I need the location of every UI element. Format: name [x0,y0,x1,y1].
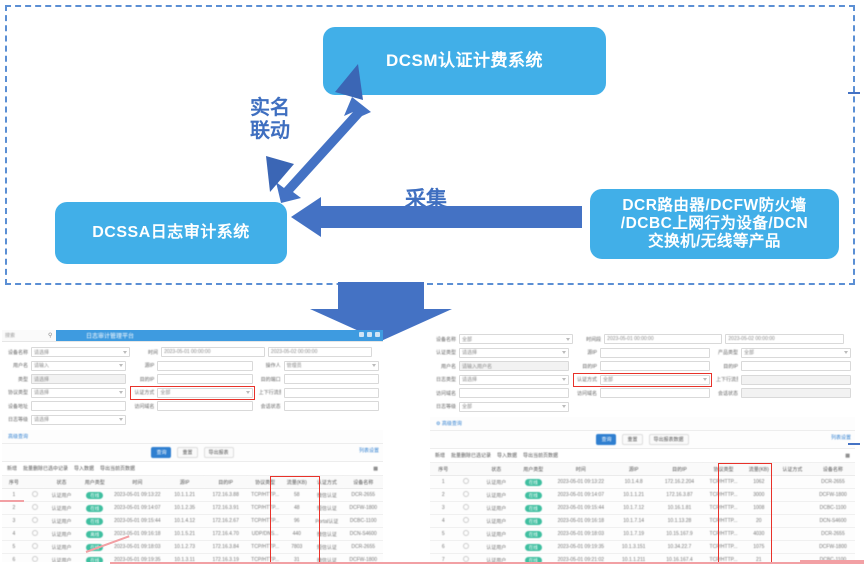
search-icon[interactable]: ⚲ [48,332,52,339]
table-column-header[interactable] [456,463,475,476]
status-badge: 在线 [525,505,542,512]
field-label: 日志等级 [434,403,456,410]
cell-protocol: TCP/HTTP... [247,489,283,502]
form-row: 访问域名 访问域名 会话状态 [434,388,851,398]
cell-src-ip: 10.1.1.21 [612,489,656,502]
cell-index: 1 [430,476,456,489]
table-row[interactable]: 4认证用户离线2023-05-01 09:16:1810.1.5.21172.1… [2,528,383,541]
field-device-name[interactable]: 设备名称 请选择 [6,347,130,357]
right-list-settings-link[interactable]: 列表设置 [831,434,851,441]
field-input[interactable] [31,401,126,411]
chevron-down-icon[interactable] [844,351,848,354]
cell-auth-method [774,528,811,541]
row-checkbox[interactable] [456,502,475,515]
field-value: 管理员 [287,362,302,369]
form-row: 日志类型 请选择 认证方式 全部 上下行流量 [434,375,851,385]
cell-device-name: DCR-2655 [811,476,855,489]
field-label: 用户名 [6,362,28,369]
table-column-header[interactable]: 流量(KB) [744,463,774,476]
field-session-state[interactable]: 会话状态 [259,401,379,411]
form-row: 用户名 请输入 源IP 操作人 管理员 [6,361,379,371]
field-label: 设备名称 [6,349,28,356]
table-column-header[interactable]: 时间 [550,463,612,476]
field-auth-method-highlighted[interactable]: 认证方式 全部 [575,375,710,385]
field-input[interactable]: 请选择 [31,347,130,357]
table-column-header[interactable]: 认证方式 [310,476,343,489]
field-label: 协议类型 [6,389,28,396]
right-advanced-query-toggle[interactable]: ⚙ 高级查询 [430,417,855,430]
cell-protocol: TCP/HTTP... [703,515,744,528]
table-row[interactable]: 3认证用户在线2023-05-01 09:15:4410.1.7.1210.16… [430,502,855,515]
field-input-to[interactable]: 2023-05-02 00:00:00 [268,347,372,357]
checkbox-icon[interactable] [463,530,469,536]
field-input[interactable] [284,374,379,384]
table-column-header[interactable]: 状态 [43,476,79,489]
row-checkbox[interactable] [26,489,44,502]
cell-time: 2023-05-01 09:14:07 [110,502,165,515]
field-label: 认证方式 [575,376,597,383]
screenshot-right-log-query[interactable]: 设备名称 全部 时间段 2023-05-01 00:00:00 2023-05-… [430,326,855,562]
field-input[interactable] [157,361,252,371]
status-badge: 在线 [86,557,103,563]
table-column-header[interactable]: 序号 [2,476,26,489]
status-badge: 在线 [525,518,542,525]
marker-dash-top-right [848,92,860,94]
field-input[interactable] [600,348,710,358]
table-row[interactable]: 2认证用户在线2023-05-01 09:14:0710.1.2.35172.1… [2,502,383,515]
cell-device-name: DCR-2655 [811,528,855,541]
field-src-ip[interactable]: 源IP [132,361,252,371]
chevron-down-icon[interactable] [246,391,250,394]
cell-flow: 3000 [744,489,774,502]
node-dcsm-label: DCSM认证计费系统 [386,51,543,71]
field-input[interactable] [157,374,252,384]
chevron-down-icon[interactable] [562,378,566,381]
table-column-header[interactable]: 协议类型 [247,476,283,489]
cell-src-ip: 10.1.7.19 [612,528,656,541]
cell-src-ip: 10.1.7.14 [612,515,656,528]
cell-status: 在线 [80,489,110,502]
export-report-button[interactable]: 导出报表 [204,447,234,458]
table-row[interactable]: 1认证用户在线2023-05-01 09:13:2210.1.4.8172.16… [430,476,855,489]
checkbox-icon[interactable] [463,504,469,510]
cell-auth-method: 短信认证 [310,502,343,515]
row-checkbox[interactable] [456,528,475,541]
form-row: 类型 请选择 目的IP 目的端口 [6,374,379,384]
form-row: 日志等级 请选择 [6,415,379,425]
status-badge: 在线 [525,531,542,538]
row-checkbox[interactable] [456,515,475,528]
field-input[interactable]: 全部 [600,375,710,385]
cell-index: 4 [2,528,26,541]
field-input[interactable] [459,388,569,398]
cell-auth-method [774,515,811,528]
cell-src-ip: 10.1.3.11 [165,554,204,563]
cell-status: 在线 [516,489,550,502]
field-input[interactable]: 请选择 [31,415,126,425]
field-input[interactable]: 全部 [741,348,851,358]
field-label: 目的IP [575,363,597,370]
checkbox-icon[interactable] [32,491,38,497]
toolbar-export-button[interactable]: 导出当前页数据 [100,465,135,472]
chevron-down-icon[interactable] [119,364,123,367]
field-time-range[interactable]: 时间段 2023-05-01 00:00:00 2023-05-02 00:00… [579,334,843,344]
minimize-icon[interactable] [359,332,364,337]
field-label: 类型 [6,376,28,383]
table-row[interactable]: 5认证用户在线2023-05-01 09:18:0310.1.7.1910.15… [430,528,855,541]
left-window-title: 日志审计管理平台 [86,331,134,340]
cell-protocol: TCP/HTTP... [247,515,283,528]
cell-user-type: 认证用户 [43,515,79,528]
screenshot-left-log-query[interactable]: 搜索 ⚲ 日志审计管理平台 设备名称 请选择 时间 2023-05-01 00:… [2,330,383,562]
cell-flow: 21 [744,554,774,563]
arrow-label-collect: 采集 [405,188,447,212]
cell-index: 4 [430,515,456,528]
form-row: 日志等级 全部 [434,402,851,412]
left-log-table[interactable]: 序号状态用户类型时间源IP目的IP协议类型流量(KB)认证方式设备名称 1认证用… [2,476,383,562]
cell-src-ip: 10.1.3.151 [612,541,656,554]
cell-device-name: DCR-2655 [343,541,383,554]
column-settings-icon[interactable]: ▦ [845,453,850,459]
column-settings-icon[interactable]: ▦ [373,466,378,472]
table-column-header[interactable]: 时间 [110,476,165,489]
cell-dst-ip: 10.34.22.7 [656,541,704,554]
table-column-header[interactable]: 认证方式 [774,463,811,476]
left-list-settings-link[interactable]: 列表设置 [359,447,379,454]
cell-status: 在线 [516,502,550,515]
table-row[interactable]: 4认证用户在线2023-05-01 09:16:1810.1.7.1410.1.… [430,515,855,528]
field-label: 目的IP [132,376,154,383]
chevron-down-icon[interactable] [372,364,376,367]
field-label: 会话状态 [259,403,281,410]
checkbox-icon[interactable] [463,491,469,497]
field-proto-type[interactable]: 协议类型 请选择 [6,388,126,398]
row-checkbox[interactable] [26,554,44,563]
cell-dst-ip: 172.16.3.87 [656,489,704,502]
cell-dst-ip: 172.16.3.91 [204,502,247,515]
table-column-header[interactable]: 目的IP [204,476,247,489]
cell-status: 在线 [516,528,550,541]
cell-status: 在线 [80,502,110,515]
field-label: 日志类型 [434,376,456,383]
cell-dst-ip: 10.15.167.9 [656,528,704,541]
cell-dst-ip: 172.16.4.70 [204,528,247,541]
field-input[interactable]: 请输入 [31,361,126,371]
field-value: 请选择 [34,349,49,356]
cell-user-type: 认证用户 [43,554,79,563]
toolbar-batch-delete-button[interactable]: 批量删除已选记录 [451,452,491,459]
field-label: 用户名 [434,363,456,370]
field-input[interactable]: 管理员 [284,361,379,371]
cell-flow: 58 [283,489,310,502]
field-auth-method-highlighted[interactable]: 认证方式 全部 [132,388,252,398]
annotation-line-right-edge [800,560,864,562]
cell-device-name: DCR-2655 [343,489,383,502]
field-label: 目的端口 [259,376,281,383]
cell-auth-method [774,541,811,554]
checkbox-icon[interactable] [463,517,469,523]
cell-user-type: 认证用户 [476,489,517,502]
cell-device-name: DCFW-1800 [343,554,383,563]
field-value: 2023-05-02 00:00:00 [271,349,317,355]
close-icon[interactable] [375,332,380,337]
checkbox-icon[interactable] [32,530,38,536]
field-value: 全部 [744,349,754,356]
field-auth-type[interactable]: 认证类型 请选择 [434,348,569,358]
query-button[interactable]: 查询 [596,434,616,445]
toolbar-import-button[interactable]: 导入数据 [497,452,517,459]
cell-index: 2 [2,502,26,515]
field-device-addr[interactable]: 设备地址 [6,401,126,411]
field-dst-ip[interactable]: 目的IP [132,374,252,384]
cell-auth-method: 微信认证 [310,528,343,541]
field-input[interactable] [600,388,710,398]
node-devices-line2: /DCBC上网行为设备/DCN [621,215,808,233]
field-input[interactable] [741,361,851,371]
cell-device-name: DCBC-1100 [343,515,383,528]
field-input-from[interactable]: 2023-05-01 00:00:00 [604,334,722,344]
left-button-row[interactable]: 查询 重置 导出报表 列表设置 [2,443,383,461]
chevron-down-icon[interactable] [566,338,570,341]
field-product-type[interactable]: 操作人 管理员 [259,361,379,371]
row-checkbox[interactable] [456,541,475,554]
cell-src-ip: 10.1.7.12 [612,502,656,515]
table-column-header[interactable]: 源IP [165,476,204,489]
cell-flow: 96 [283,515,310,528]
export-report-button[interactable]: 导出报表数据 [649,434,689,445]
left-search-input[interactable]: 搜索 [5,332,15,339]
chevron-down-icon[interactable] [123,351,127,354]
architecture-diagram-panel: DCSM认证计费系统 DCSSA日志审计系统 DCR路由器/DCFW防火墙 /D… [5,5,855,285]
toolbar-export-button[interactable]: 导出当前页数据 [523,452,558,459]
row-checkbox[interactable] [26,502,44,515]
checkbox-icon[interactable] [32,504,38,510]
field-device-name[interactable]: 设备名称 全部 [434,334,573,344]
field-label: 源IP [132,362,154,369]
cell-device-name: DCFW-1800 [811,541,855,554]
field-value: 请选择 [34,389,49,396]
table-header-row: 序号状态用户类型时间源IP目的IP协议类型流量(KB)认证方式设备名称 [430,463,855,476]
table-column-header[interactable]: 协议类型 [703,463,744,476]
field-input-to[interactable]: 2023-05-02 00:00:00 [725,334,843,344]
cell-src-ip: 10.1.2.73 [165,541,204,554]
maximize-icon[interactable] [367,332,372,337]
cell-device-name: DCBC-1100 [811,502,855,515]
field-value: 请输入用户名 [462,363,492,370]
checkbox-icon[interactable] [463,543,469,549]
cell-auth-method: Portal认证 [310,515,343,528]
cell-user-type: 认证用户 [43,528,79,541]
field-label: 上下行流量 [716,376,738,383]
cell-dst-ip: 172.16.3.84 [204,541,247,554]
cell-protocol: TCP/HTTP... [703,541,744,554]
chevron-down-icon[interactable] [703,378,707,381]
table-row[interactable]: 6认证用户在线2023-05-01 09:19:3510.1.3.15110.3… [430,541,855,554]
field-username: 用户名 请输入用户名 [434,361,569,371]
cell-time: 2023-05-01 09:15:44 [110,515,165,528]
cell-index: 5 [430,528,456,541]
table-row[interactable]: 3认证用户在线2023-05-01 09:15:4410.1.4.12172.1… [2,515,383,528]
node-network-devices: DCR路由器/DCFW防火墙 /DCBC上网行为设备/DCN 交换机/无线等产品 [590,189,839,259]
arrow-label-realname-line2: 联动 [250,120,290,143]
right-query-form[interactable]: 设备名称 全部 时间段 2023-05-01 00:00:00 2023-05-… [430,326,855,417]
row-checkbox[interactable] [26,541,44,554]
field-label: 上下行流量 [259,389,281,396]
cell-protocol: UDP/DNS... [247,528,283,541]
field-input[interactable] [157,401,252,411]
left-advanced-query-toggle[interactable]: 高级查询 [2,430,383,443]
field-visit-domain-2[interactable]: 访问域名 [575,388,710,398]
field-label: 访问域名 [434,390,456,397]
field-value: 全部 [160,389,170,396]
chevron-down-icon[interactable] [119,418,123,421]
field-input[interactable]: 请选择 [459,375,569,385]
field-dst-port[interactable]: 目的端口 [259,374,379,384]
row-checkbox[interactable] [26,515,44,528]
table-column-header[interactable]: 用户类型 [516,463,550,476]
field-input-from[interactable]: 2023-05-01 00:00:00 [161,347,265,357]
table-column-header[interactable]: 流量(KB) [283,476,310,489]
form-row: 设备名称 全部 时间段 2023-05-01 00:00:00 2023-05-… [434,334,851,344]
table-column-header[interactable]: 设备名称 [343,476,383,489]
checkbox-icon[interactable] [32,543,38,549]
cell-user-type: 认证用户 [476,476,517,489]
field-value: 2023-05-01 00:00:00 [607,336,653,342]
field-input[interactable]: 全部 [459,334,573,344]
chevron-down-icon[interactable] [119,391,123,394]
row-checkbox[interactable] [456,554,475,563]
cell-protocol: TCP/HTTP... [247,502,283,515]
field-value: 2023-05-01 00:00:00 [164,349,210,355]
field-updown-flow[interactable]: 上下行流量 [259,388,379,398]
cell-user-type: 认证用户 [476,502,517,515]
table-column-header[interactable]: 状态 [476,463,517,476]
right-button-row[interactable]: 查询 重置 导出报表数据 列表设置 [430,430,855,448]
table-column-header[interactable]: 源IP [612,463,656,476]
field-label: 会话状态 [716,390,738,397]
field-session-state[interactable]: 会话状态 [716,388,851,398]
window-controls[interactable] [359,332,380,337]
left-query-form[interactable]: 设备名称 请选择 时间 2023-05-01 00:00:00 2023-05-… [2,342,383,430]
cell-flow: 1008 [744,502,774,515]
field-value: 请选择 [462,376,477,383]
cell-index: 3 [2,515,26,528]
field-log-level[interactable]: 日志等级 请选择 [6,415,126,425]
reset-button[interactable]: 重置 [177,447,197,458]
field-log-level[interactable]: 日志等级 全部 [434,402,569,412]
right-log-table[interactable]: 序号状态用户类型时间源IP目的IP协议类型流量(KB)认证方式设备名称 1认证用… [430,463,855,562]
field-label: 访问域名 [132,403,154,410]
table-row[interactable]: 7认证用户在线2023-05-01 09:21:0210.1.1.21110.1… [430,554,855,563]
toolbar-add-button[interactable]: 新增 [7,465,17,472]
cell-flow: 4030 [744,528,774,541]
left-table-toolbar[interactable]: 新增 批量删除已选中记录 导入数据 导出当前页数据 ▦ [2,461,383,476]
status-badge: 在线 [525,544,542,551]
table-row[interactable]: 2认证用户在线2023-05-01 09:14:0710.1.1.21172.1… [430,489,855,502]
table-column-header[interactable] [26,476,44,489]
cell-flow: 1075 [744,541,774,554]
table-column-header[interactable]: 目的IP [656,463,704,476]
annotation-line-bottom [110,562,864,564]
field-input[interactable]: 全部 [157,388,252,398]
table-column-header[interactable]: 序号 [430,463,456,476]
cell-src-ip: 10.1.1.211 [612,554,656,563]
toolbar-add-button[interactable]: 新增 [435,452,445,459]
query-button[interactable]: 查询 [151,447,171,458]
reset-button[interactable]: 重置 [622,434,642,445]
cell-protocol: TCP/HTTP... [703,554,744,563]
field-input[interactable] [600,361,710,371]
cell-time: 2023-05-01 09:14:07 [550,489,612,502]
field-visit-domain[interactable]: 访问域名 [132,401,252,411]
chevron-down-icon[interactable] [562,351,566,354]
cell-auth-method: 短信认证 [310,541,343,554]
cell-time: 2023-05-01 09:15:44 [550,502,612,515]
field-input[interactable] [284,388,379,398]
field-value: 请选择 [34,376,49,383]
field-product-type[interactable]: 产品类型 全部 [716,348,851,358]
cell-dst-ip: 10.1.13.28 [656,515,704,528]
toolbar-import-button[interactable]: 导入数据 [74,465,94,472]
field-value: 全部 [462,403,472,410]
checkbox-icon[interactable] [32,556,38,562]
cell-device-name: DCN-S4600 [811,515,855,528]
row-checkbox[interactable] [456,489,475,502]
row-checkbox[interactable] [456,476,475,489]
field-dst-ip-2[interactable]: 目的IP [716,361,851,371]
field-time-range[interactable]: 时间 2023-05-01 00:00:00 2023-05-02 00:00:… [136,347,372,357]
cell-index: 7 [430,554,456,563]
field-label: 认证方式 [132,389,154,396]
form-row: 用户名 请输入用户名 目的IP 目的IP [434,361,851,371]
cell-src-ip: 10.1.2.35 [165,502,204,515]
cell-flow: 1062 [744,476,774,489]
table-column-header[interactable]: 用户类型 [80,476,110,489]
right-table-toolbar[interactable]: 新增 批量删除已选记录 导入数据 导出当前页数据 ▦ [430,448,855,463]
field-dst-ip[interactable]: 目的IP [575,361,710,371]
table-row[interactable]: 5认证用户在线2023-05-01 09:18:0310.1.2.73172.1… [2,541,383,554]
row-checkbox[interactable] [26,528,44,541]
cell-user-type: 认证用户 [43,502,79,515]
status-badge: 在线 [86,505,103,512]
checkbox-icon[interactable] [32,517,38,523]
cell-dst-ip: 172.16.3.19 [204,554,247,563]
field-input[interactable]: 请选择 [459,348,569,358]
field-log-type[interactable]: 日志类型 请选择 [434,375,569,385]
field-visit-domain[interactable]: 访问域名 [434,388,569,398]
status-badge: 在线 [525,479,542,486]
table-row[interactable]: 1认证用户在线2023-05-01 09:13:2210.1.1.21172.1… [2,489,383,502]
toolbar-batch-delete-button[interactable]: 批量删除已选中记录 [23,465,68,472]
cell-user-type: 认证用户 [476,541,517,554]
cell-device-name: DCFW-1800 [343,502,383,515]
table-column-header[interactable]: 设备名称 [811,463,855,476]
field-input [741,375,851,385]
cell-index: 3 [430,502,456,515]
annotation-line-left [0,500,24,502]
field-input[interactable]: 请选择 [31,388,126,398]
field-src-ip[interactable]: 源IP [575,348,710,358]
table-row[interactable]: 6认证用户在线2023-05-01 09:19:3510.1.3.11172.1… [2,554,383,563]
cell-time: 2023-05-01 09:13:22 [550,476,612,489]
field-username[interactable]: 用户名 请输入 [6,361,126,371]
node-devices-line1: DCR路由器/DCFW防火墙 [621,197,808,215]
checkbox-icon[interactable] [463,478,469,484]
field-updown-flow[interactable]: 上下行流量 [716,375,851,385]
field-input[interactable] [284,401,379,411]
field-input[interactable]: 全部 [459,402,569,412]
chevron-down-icon[interactable] [562,405,566,408]
